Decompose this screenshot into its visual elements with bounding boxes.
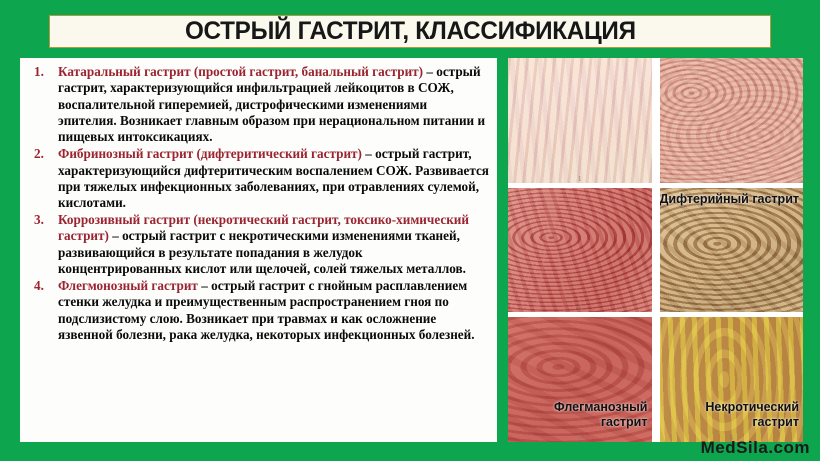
photo-caption: Дифтерийный гастрит <box>660 192 800 207</box>
photo-necrotic-gastritis: Некротический гастрит 6 <box>660 317 804 442</box>
photo-index-label: 2 <box>730 175 734 183</box>
list-item-term: Катаральный гастрит (простой гастрит, ба… <box>58 64 423 79</box>
list-item: 3.Коррозивный гастрит (некротический гас… <box>26 212 489 277</box>
list-item: 4.Флегмонозный гастрит – острый гастрит … <box>26 278 489 343</box>
slide-title-band: ОСТРЫЙ ГАСТРИТ, КЛАССИФИКАЦИЯ <box>49 15 771 48</box>
list-item-number: 1. <box>34 64 44 80</box>
photo-index-label: 1 <box>578 175 582 183</box>
list-item: 1.Катаральный гастрит (простой гастрит, … <box>26 64 489 146</box>
list-item-number: 2. <box>34 146 44 162</box>
list-item-term: Флегмонозный гастрит <box>58 278 198 293</box>
photo-erosive-gastritis: 3 <box>508 188 652 313</box>
photo-catarrhal-gastritis: 1 <box>508 58 652 183</box>
photo-index-label: 3 <box>578 304 582 312</box>
photo-caption: Некротический гастрит <box>660 400 800 430</box>
site-watermark: MedSila.com <box>701 438 810 458</box>
photo-texture <box>508 188 652 313</box>
list-item-definition: – острый гастрит с некротическими измене… <box>58 228 466 276</box>
photo-index-label: 5 <box>578 434 582 442</box>
photo-texture <box>508 58 652 183</box>
list-item-term: Фибринозный гастрит (дифтеритический гас… <box>58 146 362 161</box>
gastritis-photo-grid: 1 2 3 Дифтерийный гастрит 4 Флегманозный… <box>508 58 803 442</box>
list-item-number: 3. <box>34 212 44 228</box>
photo-caption: Флегманозный гастрит <box>508 400 648 430</box>
classification-list: 1.Катаральный гастрит (простой гастрит, … <box>26 64 489 343</box>
photo-index-label: 4 <box>730 304 734 312</box>
photo-diphtheritic-gastritis: Дифтерийный гастрит 4 <box>660 188 804 313</box>
photo-texture <box>660 58 804 183</box>
list-item: 2.Фибринозный гастрит (дифтеритический г… <box>26 146 489 211</box>
page-title: ОСТРЫЙ ГАСТРИТ, КЛАССИФИКАЦИЯ <box>185 17 636 46</box>
photo-phlegmonous-gastritis: Флегманозный гастрит 5 <box>508 317 652 442</box>
classification-text-panel: 1.Катаральный гастрит (простой гастрит, … <box>20 58 497 442</box>
list-item-number: 4. <box>34 278 44 294</box>
photo-mucosa-folds: 2 <box>660 58 804 183</box>
